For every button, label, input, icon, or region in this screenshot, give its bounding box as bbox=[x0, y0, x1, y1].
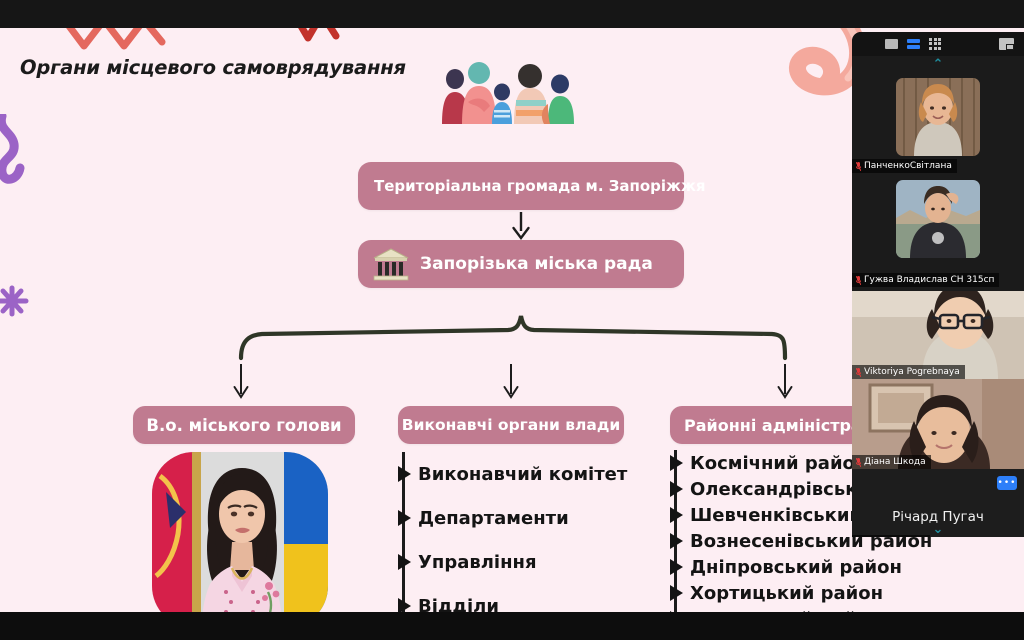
more-options-button[interactable]: ••• bbox=[997, 476, 1017, 490]
box-city-council[interactable]: Запорізька міська рада bbox=[358, 240, 684, 288]
participant-tile[interactable]: Гужва Владислав СН 315сп bbox=[852, 176, 1024, 291]
list-item[interactable]: Департаменти bbox=[402, 496, 627, 540]
list-item[interactable]: Дніпровський район bbox=[674, 554, 951, 580]
list-item[interactable]: Управління bbox=[402, 540, 627, 584]
list-item-label: Виконавчий комітет bbox=[418, 464, 627, 485]
zoom-view-toolbar[interactable] bbox=[852, 32, 1024, 56]
list-item-label: Космічний район bbox=[690, 453, 867, 474]
participant-tile[interactable]: Діана Шкода bbox=[852, 379, 1024, 469]
box-territorial-community-label: Територіальна громада м. Запоріжжя bbox=[374, 177, 706, 195]
participant-name: ПанченкоСвітлана bbox=[864, 161, 952, 171]
triangle-bullet-icon bbox=[398, 554, 411, 570]
triangle-bullet-icon bbox=[398, 466, 411, 482]
share-screen-icon[interactable] bbox=[999, 38, 1014, 50]
box-city-council-label: Запорізька міська рада bbox=[420, 254, 653, 274]
triangle-bullet-icon bbox=[398, 510, 411, 526]
triangle-bullet-icon bbox=[670, 455, 683, 471]
participant-video bbox=[896, 78, 980, 156]
zoom-participants-panel[interactable]: ⌃ bbox=[852, 32, 1024, 537]
mic-muted-icon bbox=[856, 162, 861, 171]
box-executive-bodies-label: Виконавчі органи влади bbox=[402, 416, 620, 434]
box-territorial-community[interactable]: Територіальна громада м. Запоріжжя bbox=[358, 162, 684, 210]
participant-tile[interactable]: ПанченкоСвітлана bbox=[852, 72, 1024, 176]
participant-nametag: Гужва Владислав СН 315сп bbox=[852, 273, 999, 287]
triangle-bullet-icon bbox=[670, 481, 683, 497]
participant-nametag: Діана Шкода bbox=[852, 455, 931, 469]
grid-view-icon[interactable] bbox=[929, 38, 942, 51]
participant-name: Діана Шкода bbox=[864, 457, 926, 467]
participant-tile[interactable]: Viktoriya Pogrebnaya bbox=[852, 291, 1024, 379]
triangle-bullet-icon bbox=[670, 585, 683, 601]
list-item[interactable]: Хортицький район bbox=[674, 580, 951, 606]
participant-name: Гужва Владислав СН 315сп bbox=[864, 275, 994, 285]
scroll-down-chevron-icon[interactable]: ⌄ bbox=[852, 521, 1024, 537]
list-item-label: Відділи bbox=[418, 596, 499, 613]
executive-bodies-list: Виконавчий комітет Департаменти Управлін… bbox=[402, 452, 627, 612]
triangle-bullet-icon bbox=[670, 507, 683, 523]
list-item-label: Департаменти bbox=[418, 508, 569, 529]
list-item-label: Дніпровський район bbox=[690, 557, 902, 578]
screen: Органи місцевого самоврядування bbox=[0, 0, 1024, 640]
split-view-icon[interactable] bbox=[907, 39, 920, 50]
list-item-label: Управління bbox=[418, 552, 537, 573]
scroll-up-chevron-icon[interactable]: ⌃ bbox=[852, 56, 1024, 72]
letterbox-bottom bbox=[0, 612, 1024, 640]
triangle-bullet-icon bbox=[670, 559, 683, 575]
mayor-portrait-photo bbox=[152, 452, 328, 612]
participant-video bbox=[896, 180, 980, 258]
participant-name: Viktoriya Pogrebnaya bbox=[864, 367, 960, 377]
box-executive-bodies[interactable]: Виконавчі органи влади bbox=[398, 406, 624, 444]
box-acting-mayor-label: В.о. міського голови bbox=[146, 416, 341, 435]
letterbox-top bbox=[0, 0, 1024, 28]
participant-nametag: ПанченкоСвітлана bbox=[852, 159, 957, 173]
mic-muted-icon bbox=[856, 368, 861, 377]
triangle-bullet-icon bbox=[670, 533, 683, 549]
classical-building-icon bbox=[372, 247, 410, 281]
minimize-icon[interactable] bbox=[862, 39, 876, 50]
participant-nametag: Viktoriya Pogrebnaya bbox=[852, 365, 965, 379]
mic-muted-icon bbox=[856, 458, 861, 467]
box-acting-mayor[interactable]: В.о. міського голови bbox=[133, 406, 355, 444]
list-item[interactable]: Виконавчий комітет bbox=[402, 452, 627, 496]
triangle-bullet-icon bbox=[398, 598, 411, 612]
mic-muted-icon bbox=[856, 276, 861, 285]
single-view-icon[interactable] bbox=[885, 39, 898, 49]
list-item[interactable]: Відділи bbox=[402, 584, 627, 612]
list-item-label: Хортицький район bbox=[690, 583, 883, 604]
